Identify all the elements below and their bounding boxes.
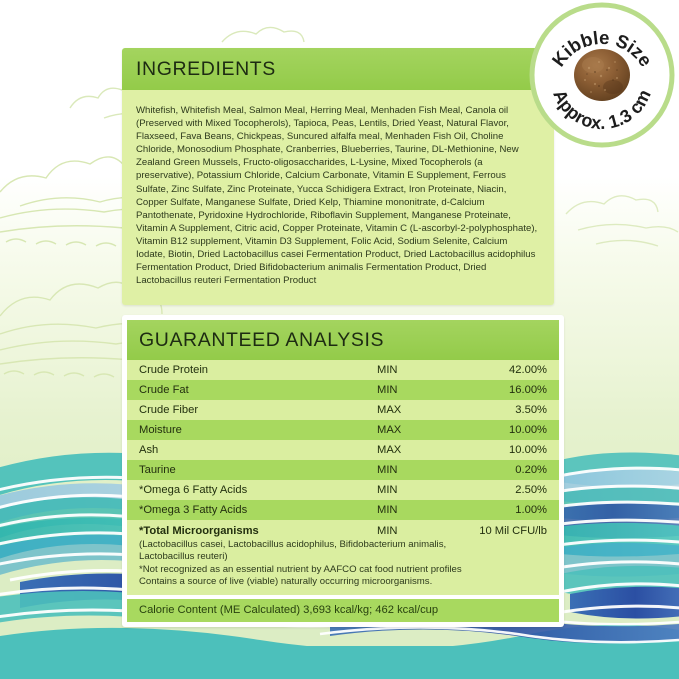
nutrient-name: Crude Fat — [139, 384, 377, 396]
ingredients-title: INGREDIENTS — [136, 58, 540, 81]
nutrient-value: 10.00% — [463, 424, 547, 436]
nutrient-value: 2.50% — [463, 484, 547, 496]
table-row: Ash MAX 10.00% — [127, 440, 559, 460]
ingredients-body: Whitefish, Whitefish Meal, Salmon Meal, … — [122, 90, 554, 305]
ingredients-header: INGREDIENTS — [122, 48, 554, 90]
table-row: Crude Protein MIN 42.00% — [127, 360, 559, 380]
table-row: *Omega 3 Fatty Acids MIN 1.00% — [127, 500, 559, 520]
microorganisms-row: *Total Microorganisms MIN 10 Mil CFU/lb — [127, 520, 559, 539]
footnote-line: Contains a source of live (viable) natur… — [139, 576, 547, 588]
nutrient-value: 10.00% — [463, 444, 547, 456]
microorganisms-limit: MIN — [377, 525, 463, 537]
footnote-line: Lactobacillus reuteri) — [139, 551, 547, 563]
nutrient-limit: MIN — [377, 464, 463, 476]
ingredients-panel: INGREDIENTS Whitefish, Whitefish Meal, S… — [122, 48, 554, 305]
nutrient-name: Ash — [139, 444, 377, 456]
nutrient-name: Moisture — [139, 424, 377, 436]
ingredients-text: Whitefish, Whitefish Meal, Salmon Meal, … — [136, 104, 538, 287]
nutrient-value: 1.00% — [463, 504, 547, 516]
nutrient-value: 3.50% — [463, 404, 547, 416]
footnote-line: *Not recognized as an essential nutrient… — [139, 564, 547, 576]
calorie-content-bar: Calorie Content (ME Calculated) 3,693 kc… — [127, 599, 559, 622]
table-row: Taurine MIN 0.20% — [127, 460, 559, 480]
nutrient-name: Taurine — [139, 464, 377, 476]
table-row: *Omega 6 Fatty Acids MIN 2.50% — [127, 480, 559, 500]
guaranteed-analysis-table: Crude Protein MIN 42.00% Crude Fat MIN 1… — [127, 360, 559, 595]
nutrient-limit: MIN — [377, 484, 463, 496]
nutrient-value: 42.00% — [463, 364, 547, 376]
nutrient-name: Crude Protein — [139, 364, 377, 376]
nutrient-limit: MAX — [377, 404, 463, 416]
microorganisms-name: *Total Microorganisms — [139, 525, 377, 537]
microorganisms-value: 10 Mil CFU/lb — [463, 525, 547, 537]
kibble-image — [574, 49, 630, 101]
guaranteed-analysis-panel: GUARANTEED ANALYSIS Crude Protein MIN 42… — [122, 315, 564, 627]
guaranteed-analysis-header: GUARANTEED ANALYSIS — [127, 320, 559, 360]
nutrient-value: 16.00% — [463, 384, 547, 396]
nutrient-limit: MAX — [377, 424, 463, 436]
nutrient-limit: MIN — [377, 384, 463, 396]
table-row: Moisture MAX 10.00% — [127, 420, 559, 440]
table-row: Crude Fat MIN 16.00% — [127, 380, 559, 400]
nutrient-name: *Omega 3 Fatty Acids — [139, 504, 377, 516]
footnote-line: (Lactobacillus casei, Lactobacillus acid… — [139, 539, 547, 551]
label-page: INGREDIENTS Whitefish, Whitefish Meal, S… — [0, 0, 679, 679]
table-row: Crude Fiber MAX 3.50% — [127, 400, 559, 420]
nutrient-limit: MAX — [377, 444, 463, 456]
nutrient-name: *Omega 6 Fatty Acids — [139, 484, 377, 496]
footnotes: (Lactobacillus casei, Lactobacillus acid… — [127, 539, 559, 595]
nutrient-limit: MIN — [377, 364, 463, 376]
kibble-size-badge: Kibble Size Approx. 1.3 cm — [529, 2, 675, 148]
nutrient-value: 0.20% — [463, 464, 547, 476]
nutrient-name: Crude Fiber — [139, 404, 377, 416]
guaranteed-analysis-title: GUARANTEED ANALYSIS — [139, 329, 547, 352]
nutrient-limit: MIN — [377, 504, 463, 516]
